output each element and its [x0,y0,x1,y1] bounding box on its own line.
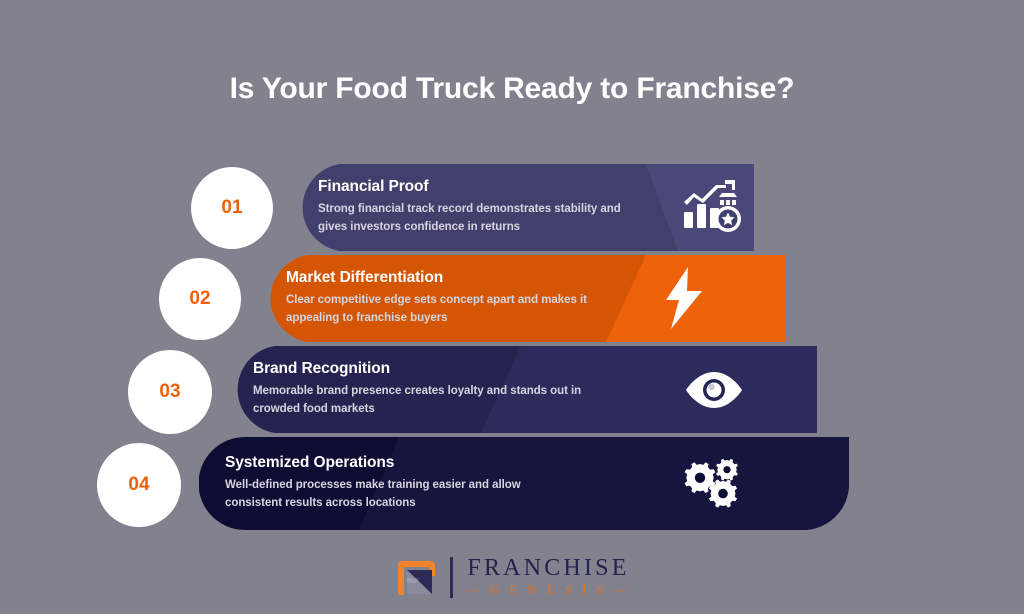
pyramid-diagram: Financial Proof Strong financial track r… [0,0,1024,540]
brand-logo: FRANCHISE — G E N E S I S — [0,554,1024,600]
eye-icon [683,366,745,414]
pyramid-tier-2[interactable]: Market Differentiation Clear competitive… [264,255,786,342]
tier-1-text: Financial Proof Strong financial track r… [318,164,648,251]
lightning-bolt-icon [654,267,714,329]
tier-4-text: Systemized Operations Well-defined proce… [225,437,570,530]
tier-3-text: Brand Recognition Memorable brand presen… [253,346,598,433]
tier-4-number-badge[interactable]: 04 [97,443,181,527]
tier-1-title: Financial Proof [318,178,648,196]
tier-1-number-badge[interactable]: 01 [191,167,273,249]
tier-4-description: Well-defined processes make training eas… [225,477,570,513]
tier-2-text: Market Differentiation Clear competitive… [286,255,616,342]
pyramid-tier-3[interactable]: Brand Recognition Memorable brand presen… [231,346,817,433]
tier-3-number-badge[interactable]: 03 [128,350,212,434]
logo-wordmark: FRANCHISE — G E N E S I S — [467,556,630,597]
logo-divider [450,557,453,598]
infographic-canvas: Is Your Food Truck Ready to Franchise? F… [0,0,1024,614]
tier-1-description: Strong financial track record demonstrat… [318,201,648,237]
logo-secondary-text: — G E N E S I S — [467,583,630,598]
pyramid-tier-4[interactable]: Systemized Operations Well-defined proce… [199,437,849,530]
growth-chart-award-icon [682,178,742,236]
tier-3-description: Memorable brand presence creates loyalty… [253,383,598,419]
tier-2-title: Market Differentiation [286,269,616,287]
pyramid-tier-1[interactable]: Financial Proof Strong financial track r… [296,164,754,251]
gears-icon [683,455,745,511]
tier-3-title: Brand Recognition [253,360,598,378]
logo-primary-text: FRANCHISE [467,556,629,581]
franchise-genesis-mark-icon [394,554,440,600]
tier-2-number-badge[interactable]: 02 [159,258,241,340]
tier-2-description: Clear competitive edge sets concept apar… [286,292,616,328]
tier-4-title: Systemized Operations [225,454,570,472]
